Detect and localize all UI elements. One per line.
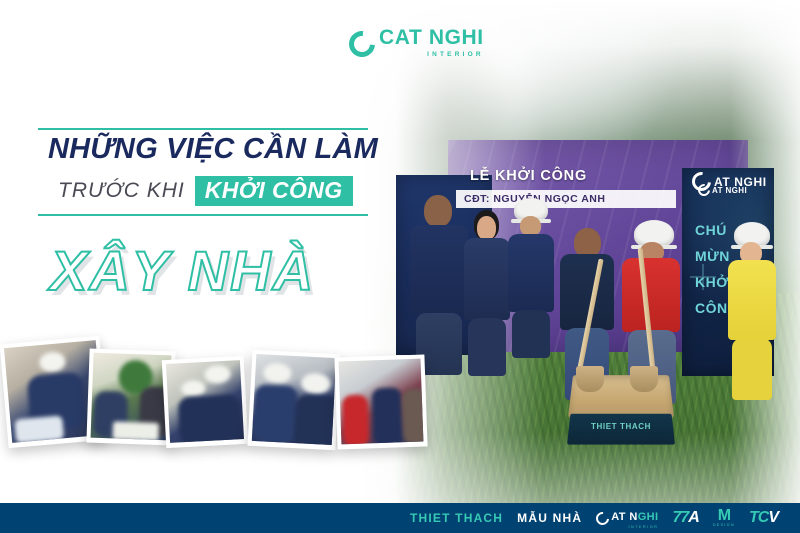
person-red-shape <box>342 394 370 444</box>
headline-line-1: NHỮNG VIỆC CẦN LÀM <box>48 133 378 166</box>
person-shape <box>372 387 404 444</box>
shovel-right <box>628 248 668 408</box>
headline-line-2-highlight: KHỞI CÔNG <box>195 176 353 206</box>
person-woman-navy <box>464 210 510 376</box>
sandbox-label: THIET THACH <box>565 422 677 431</box>
right-standee-line-3: KHỞ <box>695 274 729 290</box>
hard-hat-icon <box>204 365 231 384</box>
plan-sheet <box>14 415 64 442</box>
headline-line-3: XÂY NHÀ <box>50 238 315 303</box>
legs <box>468 318 506 376</box>
backdrop-subtitle: CĐT: NGUYỄN NGỌC ANH <box>456 190 676 208</box>
catnghi-ring-icon <box>688 168 715 195</box>
collage-image <box>252 354 336 445</box>
torso <box>508 234 554 312</box>
backdrop-logo-text: AT NGHI <box>714 175 767 189</box>
torso <box>410 225 468 315</box>
backdrop-title: LỄ KHỞI CÔNG <box>470 168 660 184</box>
right-standee-line-2: MỪN <box>695 248 730 264</box>
footer-partner-m-logo[interactable]: M DESIGN <box>713 508 735 528</box>
collage-image <box>166 360 244 443</box>
headline-line-2-plain: TRƯỚC KHI <box>58 179 185 203</box>
brand-logo[interactable]: CAT NGHI INTERIOR <box>349 29 484 58</box>
partner-m-sub: DESIGN <box>713 524 735 528</box>
headline-rule-bottom <box>38 214 368 216</box>
headline-line-2: TRƯỚC KHI KHỞI CÔNG <box>58 176 353 206</box>
footer-partner-tcv-logo[interactable]: TC V <box>749 509 778 527</box>
document-shape <box>113 421 160 440</box>
shovel-shaft <box>638 248 656 370</box>
shovel-blade <box>630 366 658 392</box>
head <box>424 195 452 227</box>
footer-brand-cat-nghi[interactable]: AT NGHI INTERIOR <box>596 507 658 529</box>
partner-tcv-tc: TC <box>749 509 768 527</box>
legs <box>512 310 550 358</box>
footer-brand-bar: THIET THACH MẪU NHÀ AT NGHI INTERIOR 77A… <box>0 503 800 533</box>
partner-tcv-v: V <box>768 509 778 527</box>
collage-image <box>339 359 424 445</box>
shovel-left <box>570 258 610 408</box>
hard-hat-icon <box>300 372 331 395</box>
poster-canvas: LỄ KHỞI CÔNG CĐT: NGUYỄN NGỌC ANH AT NGH… <box>0 0 800 533</box>
photo-collage <box>0 330 450 490</box>
torso <box>464 238 510 320</box>
collage-photo-engineer-team[interactable] <box>248 350 341 450</box>
right-standee-line-1: CHÚ <box>695 222 727 238</box>
hard-hat-icon <box>263 362 292 383</box>
hard-hat-icon <box>181 380 206 397</box>
collage-image <box>91 353 172 441</box>
catnghi-ring-icon <box>344 25 381 62</box>
person-worker-helmet <box>508 198 554 358</box>
person-shape <box>252 384 299 444</box>
shovel-shaft <box>577 259 603 370</box>
footer-brand-mau-nha[interactable]: MẪU NHÀ <box>517 511 582 525</box>
person-shape <box>294 394 337 445</box>
footer-partner-77a-logo[interactable]: 77A <box>672 509 698 527</box>
catnghi-ring-icon <box>594 509 612 527</box>
face <box>520 216 541 236</box>
backdrop-logo: AT NGHI <box>692 172 767 191</box>
right-standee-line-4: CÔN <box>695 300 728 316</box>
shovel-blade <box>576 366 604 392</box>
hard-hat-icon <box>39 351 67 373</box>
footer-catnghi-sub: INTERIOR <box>611 525 658 529</box>
torso <box>728 260 776 340</box>
collage-photo-client-meeting[interactable] <box>334 354 427 449</box>
brand-logo-name: CAT NGHI <box>379 26 484 49</box>
person-yellow-dress <box>728 222 776 400</box>
collage-photo-foundation-inspection[interactable] <box>162 356 248 448</box>
face <box>477 216 496 240</box>
brand-logo-subtitle: INTERIOR <box>379 51 484 58</box>
partner-m-mark: M <box>718 508 730 524</box>
footer-catnghi-name: AT NGHI <box>611 511 658 523</box>
headline-rule-top <box>38 128 368 130</box>
footer-brand-thiet-thach[interactable]: THIET THACH <box>410 511 503 525</box>
legs <box>732 338 772 400</box>
workers-shape <box>178 394 242 443</box>
person-shape <box>402 388 424 444</box>
